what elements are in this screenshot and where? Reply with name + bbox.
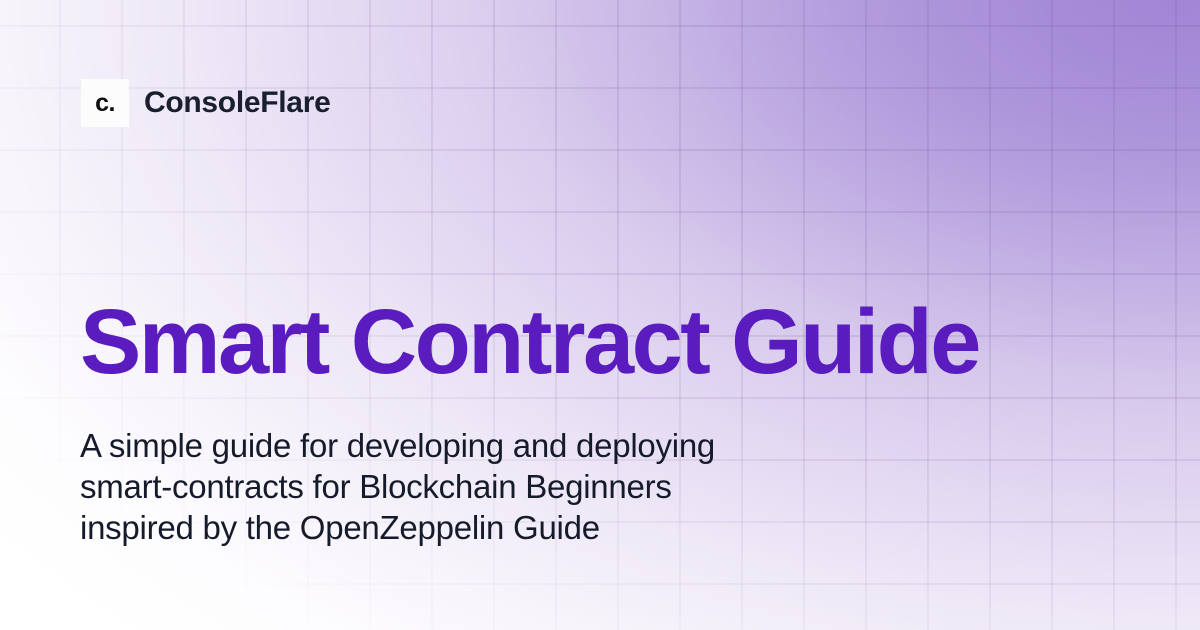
logo-mark-text: c. [95,91,115,116]
subtitle-line-1: A simple guide for developing and deploy… [80,425,715,466]
consoleflare-logo-icon: c. [81,79,129,127]
card-content: c. ConsoleFlare Smart Contract Guide A s… [0,0,1200,630]
subtitle-line-2: smart-contracts for Blockchain Beginners [80,466,715,507]
page-subtitle: A simple guide for developing and deploy… [80,425,715,548]
page-title: Smart Contract Guide [80,296,979,388]
brand-lockup[interactable]: c. ConsoleFlare [81,79,330,127]
subtitle-line-3: inspired by the OpenZeppelin Guide [80,507,715,548]
brand-wordmark: ConsoleFlare [144,88,330,118]
og-card: c. ConsoleFlare Smart Contract Guide A s… [0,0,1200,630]
